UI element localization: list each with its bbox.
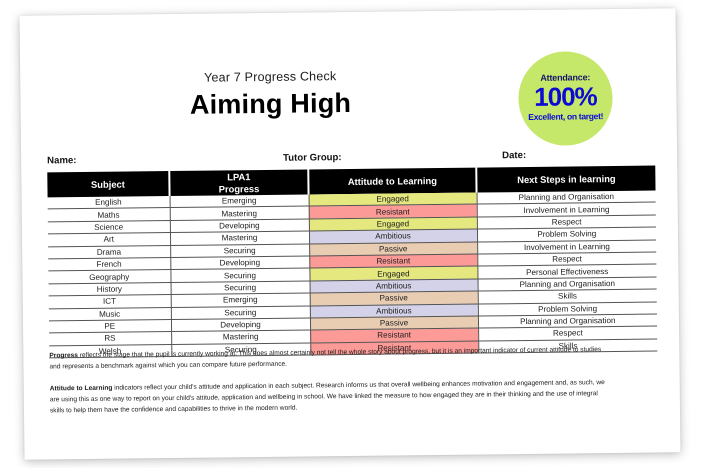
attendance-value: 100% (518, 83, 612, 111)
name-label: Name: (47, 155, 76, 166)
table-body: EnglishEmergingEngagedPlanning and Organ… (48, 191, 658, 358)
report-title: Aiming High (20, 86, 520, 123)
footnote-lead: Progress (49, 352, 78, 359)
column-header-progress-line2: Progress (170, 182, 307, 195)
tutor-group-label: Tutor Group: (283, 152, 342, 164)
column-header-next-steps: Next Steps in learning (476, 166, 655, 193)
footnotes: Progress reflects the stage that the pup… (49, 345, 610, 429)
attendance-note: Excellent, on target! (519, 111, 613, 122)
column-header-attitude: Attitude to Learning (308, 168, 476, 195)
date-label: Date: (502, 150, 526, 161)
report-subtitle: Year 7 Progress Check (20, 67, 520, 87)
footnote-paragraph: Attitude to Learning indicators reflect … (50, 378, 610, 416)
attendance-badge: Attendance: 100% Excellent, on target! (518, 51, 613, 146)
column-header-progress: LPA1 Progress (169, 169, 308, 196)
column-header-subject: Subject (47, 171, 169, 197)
report-sheet: Year 7 Progress Check Aiming High Attend… (20, 8, 681, 459)
footnote-text: indicators reflect your child's attitude… (50, 379, 605, 414)
report-page: Year 7 Progress Check Aiming High Attend… (20, 8, 681, 459)
footnote-text: reflects the stage that the pupil is cur… (49, 346, 601, 370)
progress-table: Subject LPA1 Progress Attitude to Learni… (47, 166, 657, 359)
footnote-lead: Attitude to Learning (50, 385, 113, 393)
screenshot-root: Year 7 Progress Check Aiming High Attend… (0, 0, 702, 468)
